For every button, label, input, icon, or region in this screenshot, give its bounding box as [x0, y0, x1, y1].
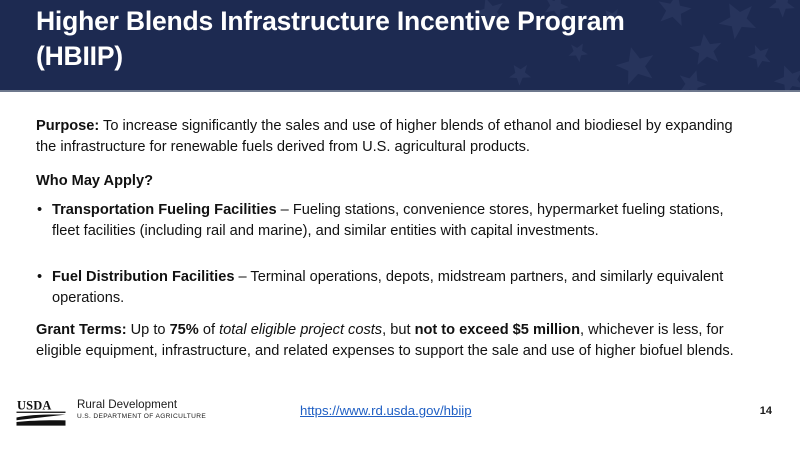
list-item: • Transportation Fueling Facilities – Fu… — [36, 200, 748, 241]
usda-agency-name: Rural Development — [77, 398, 206, 411]
grant-terms-part-3: , but — [382, 322, 414, 338]
program-url-link[interactable]: https://www.rd.usda.gov/hbiip — [300, 403, 472, 418]
usda-logo: USDA Rural Development U.S. DEPARTMENT O… — [16, 398, 206, 428]
purpose-label: Purpose: — [36, 118, 99, 134]
list-item-content: Transportation Fueling Facilities – Fuel… — [52, 200, 748, 241]
grant-terms-part-2: of — [199, 322, 219, 338]
grant-terms-percent: 75% — [170, 322, 199, 338]
bullet-marker-icon: • — [36, 200, 52, 221]
bullet-marker-icon: • — [36, 267, 52, 288]
who-may-apply-heading: Who May Apply? — [36, 171, 436, 192]
list-item: • Fuel Distribution Facilities – Termina… — [36, 267, 748, 308]
purpose-text: To increase significantly the sales and … — [36, 118, 733, 155]
slide-footer: USDA Rural Development U.S. DEPARTMENT O… — [0, 388, 800, 450]
purpose-paragraph: Purpose: To increase significantly the s… — [36, 116, 746, 157]
slide-body: Purpose: To increase significantly the s… — [0, 92, 800, 388]
list-item-term: Transportation Fueling Facilities — [52, 202, 277, 218]
slide-header-banner: Higher Blends Infrastructure Incentive P… — [0, 0, 800, 92]
page-number: 14 — [760, 405, 772, 417]
usda-wordmark: Rural Development U.S. DEPARTMENT OF AGR… — [77, 398, 206, 420]
page-title-line-1: Higher Blends Infrastructure Incentive P… — [36, 6, 625, 36]
grant-terms-italic-phrase: total eligible project costs — [219, 322, 382, 338]
grant-terms-label: Grant Terms: — [36, 322, 127, 338]
usda-department-name: U.S. DEPARTMENT OF AGRICULTURE — [77, 413, 206, 420]
grant-terms-paragraph: Grant Terms: Up to 75% of total eligible… — [36, 320, 762, 361]
svg-text:USDA: USDA — [17, 399, 52, 413]
grant-terms-part-1: Up to — [127, 322, 170, 338]
page-title-line-2: (HBIIP) — [36, 41, 123, 71]
usda-seal-icon: USDA — [16, 398, 68, 428]
list-item-term: Fuel Distribution Facilities — [52, 269, 234, 285]
grant-terms-cap: not to exceed $5 million — [415, 322, 580, 338]
slide: Higher Blends Infrastructure Incentive P… — [0, 0, 800, 450]
page-title: Higher Blends Infrastructure Incentive P… — [36, 4, 736, 74]
list-item-content: Fuel Distribution Facilities – Terminal … — [52, 267, 748, 308]
